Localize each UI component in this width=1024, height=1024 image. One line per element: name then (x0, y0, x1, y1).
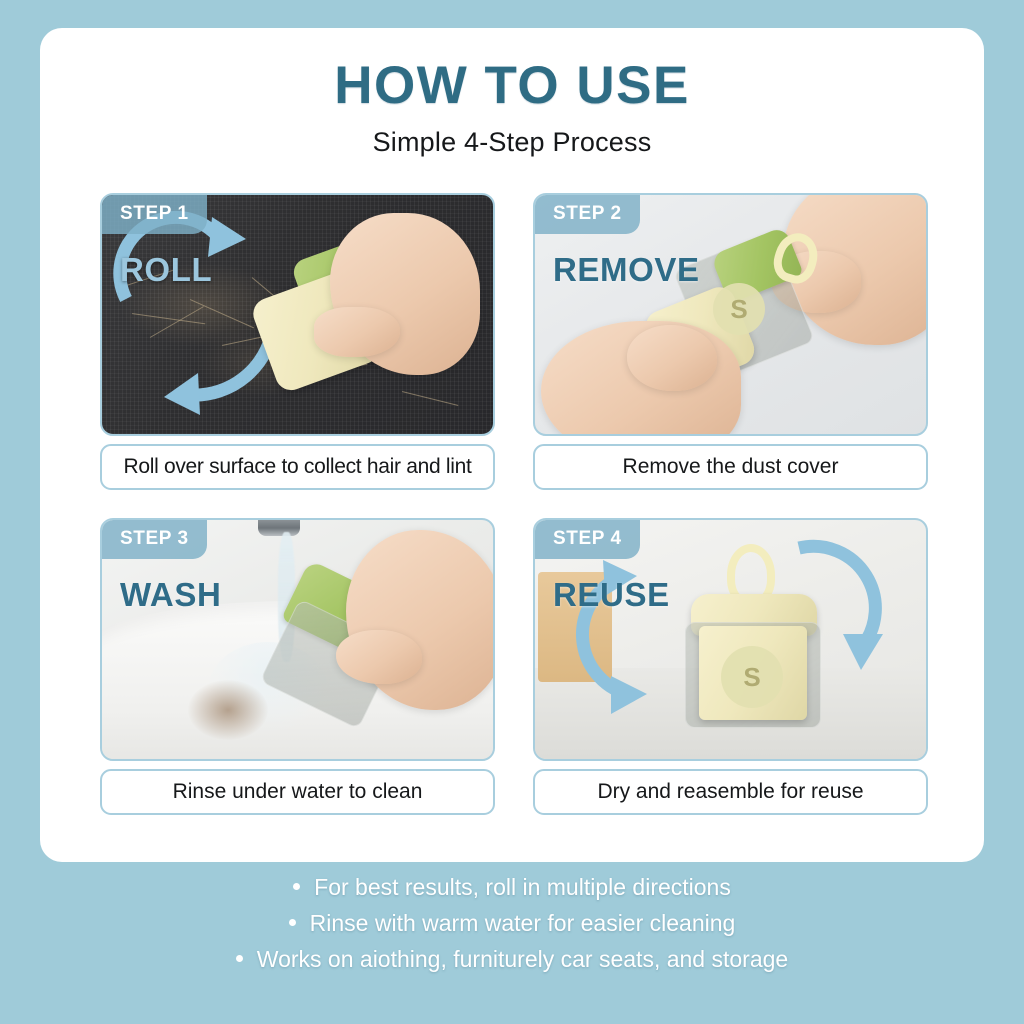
step-4-photo: S STEP 4 REUSE (533, 518, 928, 761)
thumb-lower (627, 325, 717, 391)
tip-text: Rinse with warm water for easier cleanin… (310, 910, 736, 937)
step-card-2[interactable]: S STEP 2 REMOVE Remove the dust cover (533, 193, 928, 490)
step-1-caption: Roll over surface to collect hair and li… (100, 444, 495, 490)
steps-grid: STEP 1 ROLL Roll over surface to collect… (100, 193, 928, 815)
tip-item: For best results, roll in multiple direc… (293, 874, 731, 901)
step-card-4[interactable]: S STEP 4 REUSE Dry and reasemble for reu… (533, 518, 928, 815)
step-3-word: WASH (120, 576, 221, 614)
bullet-icon (236, 955, 243, 962)
step-2-badge: STEP 2 (535, 195, 640, 234)
step-2-photo: S STEP 2 REMOVE (533, 193, 928, 436)
thumb (336, 630, 422, 684)
tip-text: Works on aiothing, furniturely car seats… (257, 946, 788, 973)
step-3-photo: STEP 3 WASH (100, 518, 495, 761)
step-card-1[interactable]: STEP 1 ROLL Roll over surface to collect… (100, 193, 495, 490)
step-3-caption: Rinse under water to clean (100, 769, 495, 815)
thumb (314, 307, 400, 357)
step-4-word: REUSE (553, 576, 670, 614)
step-2-word: REMOVE (553, 251, 700, 289)
tip-text: For best results, roll in multiple direc… (314, 874, 731, 901)
header: HOW TO USE Simple 4-Step Process (40, 28, 984, 158)
brand-logo-s: S (721, 646, 783, 708)
step-4-caption: Dry and reasemble for reuse (533, 769, 928, 815)
page-title: HOW TO USE (40, 58, 984, 114)
step-card-3[interactable]: STEP 3 WASH Rinse under water to clean (100, 518, 495, 815)
tip-item: Works on aiothing, furniturely car seats… (236, 946, 788, 973)
step-1-badge: STEP 1 (102, 195, 207, 234)
step-3-badge: STEP 3 (102, 520, 207, 559)
step-2-caption: Remove the dust cover (533, 444, 928, 490)
debris-stain (188, 680, 268, 740)
tips-list: For best results, roll in multiple direc… (0, 874, 1024, 973)
bullet-icon (293, 883, 300, 890)
page-subtitle: Simple 4-Step Process (40, 127, 984, 158)
step-1-word: ROLL (120, 251, 212, 289)
tip-item: Rinse with warm water for easier cleanin… (289, 910, 736, 937)
step-4-badge: STEP 4 (535, 520, 640, 559)
brand-logo-s: S (713, 283, 765, 335)
faucet-icon (258, 518, 300, 536)
product-assembled: S (677, 548, 857, 738)
step-1-photo: STEP 1 ROLL (100, 193, 495, 436)
info-card: HOW TO USE Simple 4-Step Process (40, 28, 984, 862)
bullet-icon (289, 919, 296, 926)
